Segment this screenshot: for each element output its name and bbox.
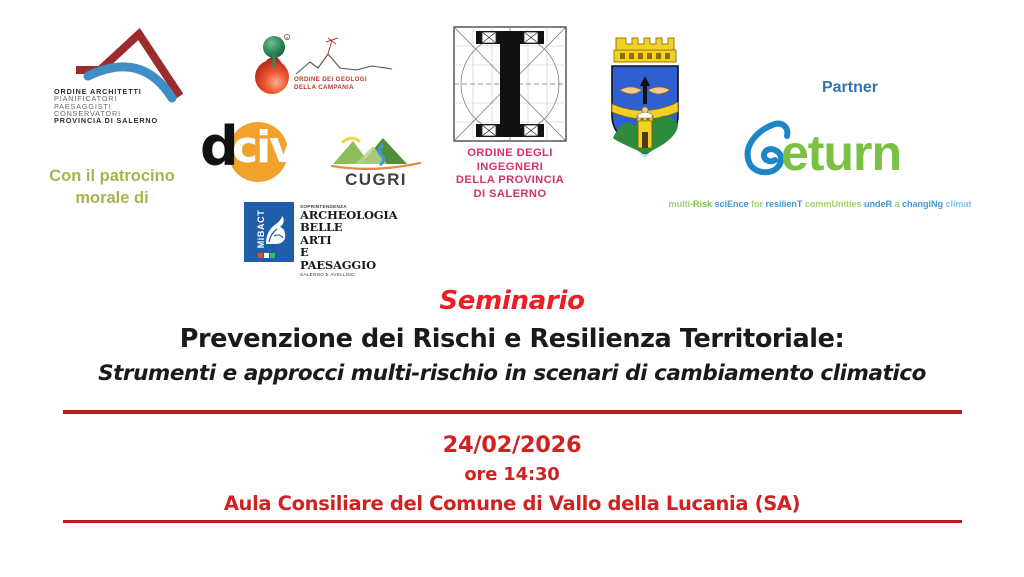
ingegneri-wordmark: ORDINE DEGLI INGEGNERI DELLA PROVINCIA D…: [444, 147, 576, 202]
ingegneri-mark-icon: [452, 25, 568, 143]
partner-label: Partner: [790, 79, 910, 97]
mibact-flag-icon: [258, 253, 275, 258]
mibact-line-3: E PAESAGGIO: [300, 246, 376, 271]
patronage-label: Con il patrocino morale di: [22, 165, 202, 210]
event-details: 24/02/2026 ore 14:30 Aula Consiliare del…: [0, 432, 1024, 515]
geologi-line-1: ORDINE DEI GEOLOGI: [294, 76, 367, 84]
dciv-letters-civ: civ: [232, 126, 296, 170]
return-tagline-word: resilienT: [765, 199, 804, 209]
return-tagline-word: undeR: [864, 199, 895, 209]
mibact-line-2: BELLE ARTI: [300, 221, 376, 246]
mibact-panel: MiBACT: [244, 202, 294, 262]
logo-mibact: MiBACT SOPRINTENDENZA ARCHEOLOGIA BELLE …: [244, 202, 376, 264]
mibact-wordmark: SOPRINTENDENZA ARCHEOLOGIA BELLE ARTI E …: [300, 204, 376, 277]
return-tagline-word: commUnities: [805, 199, 864, 209]
page-title: Prevenzione dei Rischi e Resilienza Terr…: [0, 324, 1024, 354]
coat-of-arms-icon: [604, 28, 686, 158]
seminar-kicker: Seminario: [0, 286, 1024, 316]
cugri-mark-icon: [325, 130, 427, 172]
logo-ordine-ingegneri: ORDINE DEGLI INGEGNERI DELLA PROVINCIA D…: [444, 25, 576, 205]
divider-top: [63, 410, 962, 414]
geologi-mark-icon: R: [252, 32, 397, 104]
architetti-wordmark: ORDINE ARCHITETTI PIANIFICATORI PAESAGGI…: [54, 88, 214, 125]
return-tagline-word: for: [751, 199, 765, 209]
divider-bottom: [63, 520, 962, 523]
logo-ordine-geologi: R ORDINE DEI GEOLOGI DELLA CAMPANIA: [252, 32, 397, 104]
geologi-wordmark: ORDINE DEI GEOLOGI DELLA CAMPANIA: [294, 76, 367, 93]
poster-canvas: ORDINE ARCHITETTI PIANIFICATORI PAESAGGI…: [0, 0, 1024, 577]
logo-return: eturn: [735, 118, 965, 180]
geologi-line-2: DELLA CAMPANIA: [294, 84, 367, 92]
logo-cugri: CUGRI: [325, 130, 427, 192]
ingegneri-line-3: DELLA PROVINCIA: [444, 174, 576, 188]
return-tagline-word: Risk: [693, 199, 715, 209]
page-subtitle: Strumenti e approcci multi-rischio in sc…: [0, 361, 1024, 386]
mibact-horse-icon: [260, 212, 290, 248]
svg-text:eturn: eturn: [781, 125, 901, 180]
return-tagline-word: multi-: [669, 199, 693, 209]
return-tagline-word: Ence: [727, 199, 751, 209]
return-tagline-word: climat: [945, 199, 971, 209]
logo-comune-stemma: [604, 28, 686, 158]
patronage-line-2: morale di: [22, 187, 202, 209]
patronage-line-1: Con il patrocino: [22, 165, 202, 187]
ingegneri-line-2: INGEGNERI: [444, 161, 576, 175]
cugri-wordmark: CUGRI: [325, 170, 427, 190]
return-tagline: multi-Risk sciEnce for resilienT commUni…: [650, 199, 990, 209]
mibact-sub: SALERNO E AVELLINO: [300, 272, 376, 277]
logo-dciv: d civ: [196, 118, 292, 184]
ingegneri-line-4: DI SALERNO: [444, 188, 576, 202]
event-time: ore 14:30: [0, 464, 1024, 485]
title-block: Seminario Prevenzione dei Rischi e Resil…: [0, 286, 1024, 386]
event-venue: Aula Consiliare del Comune di Vallo dell…: [0, 492, 1024, 515]
return-tagline-word: a: [894, 199, 901, 209]
return-mark-icon: eturn: [735, 118, 965, 180]
event-date: 24/02/2026: [0, 432, 1024, 458]
return-tagline-word: sci: [715, 199, 728, 209]
ingegneri-line-1: ORDINE DEGLI: [444, 147, 576, 161]
return-tagline-word: changiNg: [902, 199, 946, 209]
architetti-line-5: PROVINCIA DI SALERNO: [54, 117, 214, 124]
